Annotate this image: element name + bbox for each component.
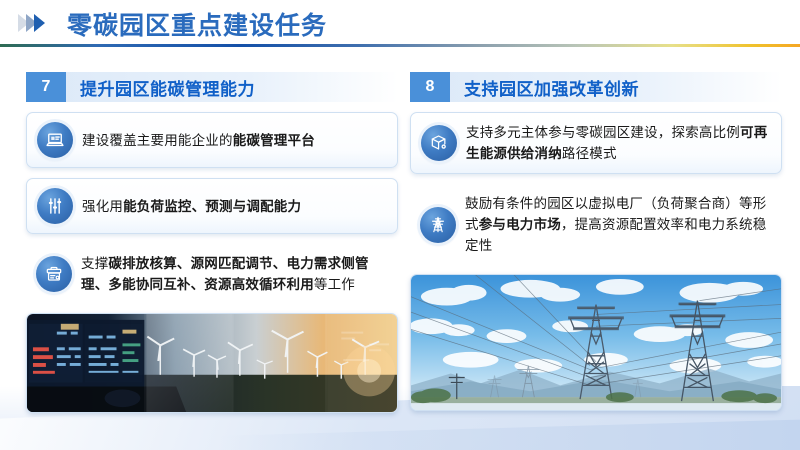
section-title: 支持园区加强改革创新: [464, 75, 639, 100]
section-8-header: 8 支持园区加强改革创新: [410, 72, 782, 102]
task-card[interactable]: 建设覆盖主要用能企业的能碳管理平台: [26, 112, 398, 168]
wind-farm-control-room-photo: [26, 313, 398, 413]
cube-gear-icon: [421, 125, 457, 161]
section-title: 提升园区能碳管理能力: [80, 75, 255, 100]
section-number-badge: 8: [410, 72, 450, 102]
transmission-towers-photo: [410, 274, 782, 411]
page-title: 零碳园区重点建设任务: [67, 6, 327, 42]
header-divider: [0, 44, 800, 47]
page-header: 零碳园区重点建设任务: [0, 0, 800, 55]
task-card-text: 支撑碳排放核算、源网匹配调节、电力需求侧管理、多能协同互补、资源高效循环利用等工…: [81, 253, 386, 295]
power-pylon-icon: [420, 207, 456, 243]
task-card[interactable]: 支撑碳排放核算、源网匹配调节、电力需求侧管理、多能协同互补、资源高效循环利用等工…: [26, 244, 398, 304]
sliders-equalizer-icon: [37, 188, 73, 224]
section-7-header: 7 提升园区能碳管理能力: [26, 72, 398, 102]
section-8-column: 8 支持园区加强改革创新 支持多元主体参与零碳园区建设，探索高比例可再生能源供给…: [410, 72, 782, 411]
double-chevron-right-icon: [18, 14, 42, 32]
task-card[interactable]: 强化用能负荷监控、预测与调配能力: [26, 178, 398, 234]
toolbox-gear-icon: [36, 256, 72, 292]
task-card-text: 支持多元主体参与零碳园区建设，探索高比例可再生能源供给消纳路径模式: [466, 122, 769, 164]
task-card-text: 强化用能负荷监控、预测与调配能力: [82, 196, 301, 217]
section-7-column: 7 提升园区能碳管理能力 建设覆盖主要用能企业的能碳管理平台 强化用能负荷监控、…: [26, 72, 398, 413]
laptop-monitor-icon: [37, 122, 73, 158]
task-card-text: 鼓励有条件的园区以虚拟电厂（负荷聚合商）等形式参与电力市场，提高资源配置效率和电…: [465, 193, 770, 256]
task-card[interactable]: 鼓励有条件的园区以虚拟电厂（负荷聚合商）等形式参与电力市场，提高资源配置效率和电…: [410, 184, 782, 265]
section-number-badge: 7: [26, 72, 66, 102]
task-card-text: 建设覆盖主要用能企业的能碳管理平台: [82, 130, 315, 151]
task-card[interactable]: 支持多元主体参与零碳园区建设，探索高比例可再生能源供给消纳路径模式: [410, 112, 782, 174]
